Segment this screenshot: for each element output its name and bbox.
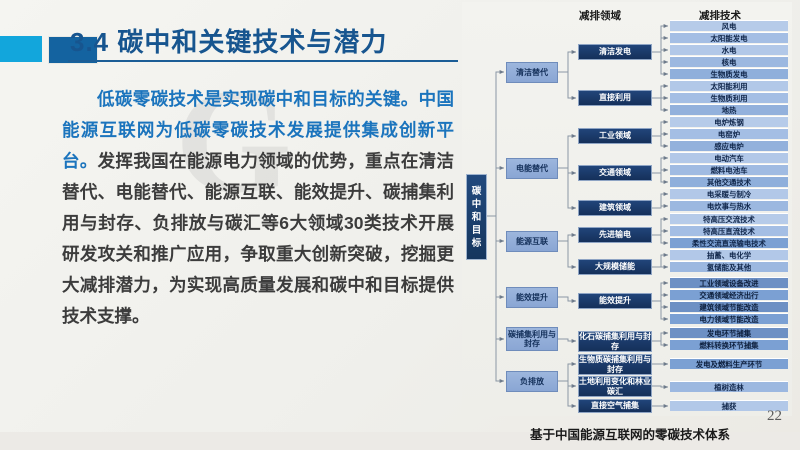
slide-canvas: G C ion 3.4 碳中和关键技术与潜力 低碳零碳技术是实现碳中和目标的关键… — [0, 0, 800, 450]
node-l2-industry[interactable]: 工业领域 — [578, 128, 652, 144]
body-rest-text: 发挥我国在能源电力领域的优势，重点在清洁替代、电能替代、能源互联、能效提升、碳捕… — [62, 151, 454, 326]
tech-row-solar-power[interactable]: 太阳能发电 — [670, 32, 788, 43]
node-l2-efficiency[interactable]: 能效提升 — [578, 293, 652, 309]
root-node-label: 碳 中 和 目 标 — [471, 185, 482, 250]
page-title: 3.4 碳中和关键技术与潜力 — [70, 22, 387, 59]
tech-row-transport-economy[interactable]: 交通领域经济出行 — [670, 289, 788, 300]
tech-row-eaf-steel[interactable]: 电炉炼钢 — [670, 116, 788, 127]
tech-row-electric-cooking-hotwater[interactable]: 电炊事与热水 — [670, 200, 788, 211]
node-l2-transport[interactable]: 交通领域 — [578, 165, 652, 181]
tech-row-biomass-power[interactable]: 生物质发电 — [670, 68, 788, 79]
tech-row-other-transport[interactable]: 其他交通技术 — [670, 176, 788, 187]
node-l2-direct-use[interactable]: 直接利用 — [578, 90, 652, 106]
tech-row-fuel-conversion-capture[interactable]: 燃料转换环节捕集 — [670, 339, 788, 350]
diagram-caption: 基于中国能源互联网的零碳技术体系 — [470, 424, 790, 443]
tech-row-flexible-acdc[interactable]: 柔性交流直流输电技术 — [670, 237, 788, 248]
node-l2-large-storage[interactable]: 大规模储能 — [578, 259, 652, 275]
node-l2-dac[interactable]: 直接空气捕集 — [578, 399, 652, 413]
tech-row-hydro[interactable]: 水电 — [670, 44, 788, 55]
tech-row-electric-kiln[interactable]: 电窑炉 — [670, 128, 788, 139]
node-l2-clean-power[interactable]: 清洁发电 — [578, 44, 652, 60]
tech-row-power-gen-capture[interactable]: 发电环节捕集 — [670, 327, 788, 338]
tech-row-induction-furnace[interactable]: 感应电炉 — [670, 140, 788, 151]
page-number: 22 — [767, 408, 782, 425]
node-l1-electric-substitution[interactable]: 电能替代 — [506, 158, 558, 179]
tech-row-biomass-use[interactable]: 生物质利用 — [670, 92, 788, 103]
tech-row-building-retrofit[interactable]: 建筑领域节能改造 — [670, 301, 788, 312]
tech-row-uhv-ac[interactable]: 特高压交流技术 — [670, 213, 788, 224]
tech-row-ev[interactable]: 电动汽车 — [670, 152, 788, 163]
tech-row-uhv-dc[interactable]: 特高压直流技术 — [670, 225, 788, 236]
node-l1-efficiency[interactable]: 能效提升 — [506, 287, 558, 308]
node-l1-energy-interconnection[interactable]: 能源互联 — [506, 231, 558, 252]
tech-row-solar-thermal[interactable]: 太阳能利用 — [670, 80, 788, 91]
tech-row-afforestation[interactable]: 植树造林 — [670, 381, 788, 392]
title-divider — [68, 60, 458, 62]
tech-row-power-retrofit[interactable]: 电力领域节能改造 — [670, 313, 788, 324]
tech-row-hydrogen-storage[interactable]: 氢储能及其他 — [670, 261, 788, 272]
node-l2-buildings[interactable]: 建筑领域 — [578, 200, 652, 216]
tech-row-pumped-electrochemical[interactable]: 抽蓄、电化学 — [670, 249, 788, 260]
node-l1-clean-substitution[interactable]: 清洁替代 — [506, 62, 558, 83]
title-accent-square-cyan — [0, 36, 42, 62]
tech-row-geothermal[interactable]: 地热 — [670, 104, 788, 115]
node-l2-advanced-grid[interactable]: 先进输电 — [578, 227, 652, 243]
tech-row-gen-and-fuel-production[interactable]: 发电及燃料生产环节 — [670, 358, 788, 369]
node-l2-lulucf[interactable]: 土地利用变化和林业碳汇 — [578, 376, 652, 397]
tech-row-electric-heating-cooling[interactable]: 电采暖与制冷 — [670, 188, 788, 199]
node-l2-beccs[interactable]: 生物质碳捕集利用与封存 — [578, 354, 652, 375]
zero-carbon-technology-diagram: 减排领域 减排技术 — [462, 2, 792, 416]
node-l1-ccus[interactable]: 碳捕集利用与封存 — [506, 327, 558, 351]
node-l1-negative-emission[interactable]: 负排放 — [506, 371, 558, 392]
diagram-root-node[interactable]: 碳 中 和 目 标 — [466, 174, 487, 260]
tech-row-wind[interactable]: 风电 — [670, 20, 788, 31]
body-paragraph: 低碳零碳技术是实现碳中和目标的关键。中国能源互联网为低碳零碳技术发展提供集成创新… — [62, 84, 454, 332]
tech-row-nuclear[interactable]: 核电 — [670, 56, 788, 67]
tech-row-fuel-cell-vehicle[interactable]: 燃料电池车 — [670, 164, 788, 175]
tech-row-industry-equipment[interactable]: 工业领域设备改进 — [670, 277, 788, 288]
node-l2-fossil-ccus[interactable]: 化石碳捕集利用与封存 — [578, 331, 652, 352]
